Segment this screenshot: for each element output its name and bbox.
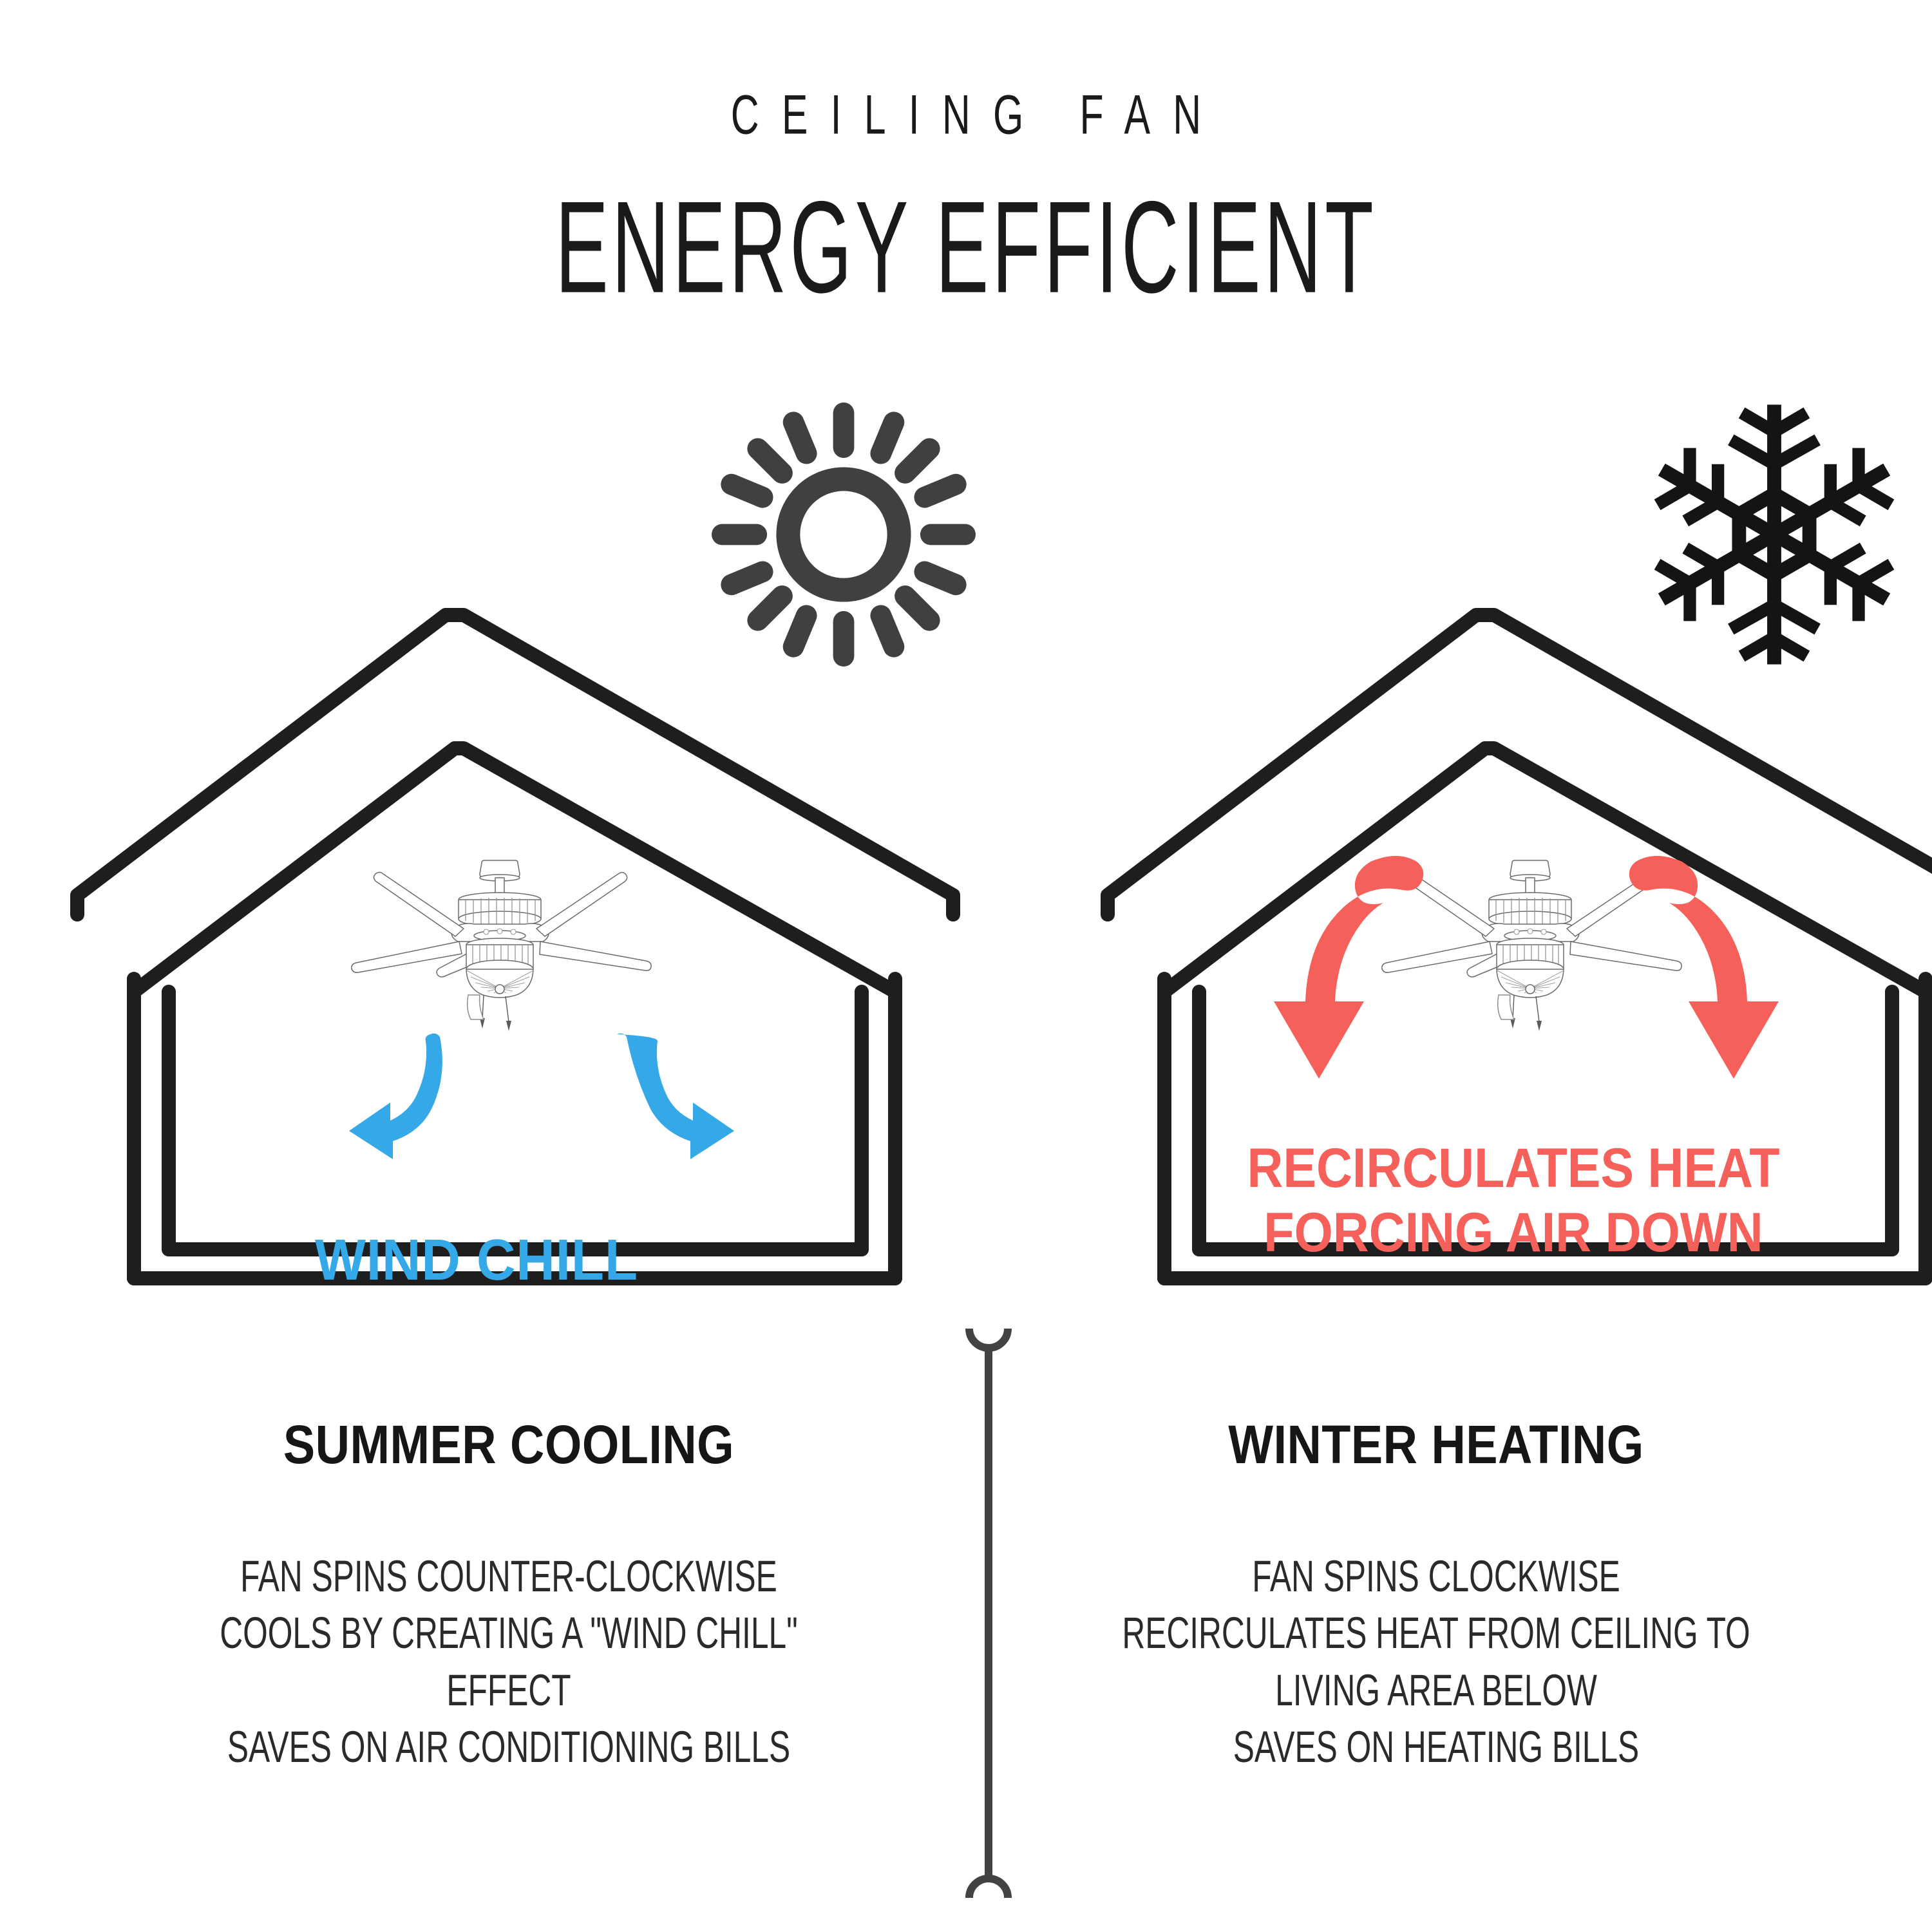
airflow-arrows-winter: [1204, 844, 1848, 1185]
kicker-title: CEILING FAN: [193, 83, 1739, 147]
airflow-arrows-summer: [277, 1030, 779, 1249]
summer-body: FAN SPINS COUNTER-CLOCKWISE COOLS BY CRE…: [184, 1548, 833, 1776]
summer-body-line-4: SAVES ON AIR CONDITIONING BILLS: [184, 1719, 833, 1776]
summer-heading: SUMMER COOLING: [112, 1414, 905, 1476]
winter-body-line-3: LIVING AREA BELOW: [1112, 1662, 1761, 1719]
page-title: ENERGY EFFICIENT: [270, 172, 1662, 323]
infographic-canvas: CEILING FAN ENERGY EFFICIENT: [0, 0, 1932, 1932]
summer-column: SUMMER COOLING FAN SPINS COUNTER-CLOCKWI…: [58, 1414, 960, 1776]
winter-body-line-2: RECIRCULATES HEAT FROM CEILING TO: [1112, 1605, 1761, 1662]
winter-body: FAN SPINS CLOCKWISE RECIRCULATES HEAT FR…: [1112, 1548, 1761, 1776]
summer-body-line-3: EFFECT: [184, 1662, 833, 1719]
winter-body-line-1: FAN SPINS CLOCKWISE: [1112, 1548, 1761, 1605]
winter-heading: WINTER HEATING: [1039, 1414, 1833, 1476]
heat-callout-line-1: RECIRCULATES HEAT: [1189, 1137, 1838, 1201]
wind-chill-callout: WIND CHILL: [141, 1227, 812, 1294]
winter-column: WINTER HEATING FAN SPINS CLOCKWISE RECIR…: [985, 1414, 1887, 1776]
summer-body-line-1: FAN SPINS COUNTER-CLOCKWISE: [184, 1548, 833, 1605]
heat-callout: RECIRCULATES HEAT FORCING AIR DOWN: [1189, 1137, 1838, 1265]
summer-body-line-2: COOLS BY CREATING A "WIND CHILL": [184, 1605, 833, 1662]
heat-callout-line-2: FORCING AIR DOWN: [1189, 1201, 1838, 1265]
winter-body-line-4: SAVES ON HEATING BILLS: [1112, 1719, 1761, 1776]
